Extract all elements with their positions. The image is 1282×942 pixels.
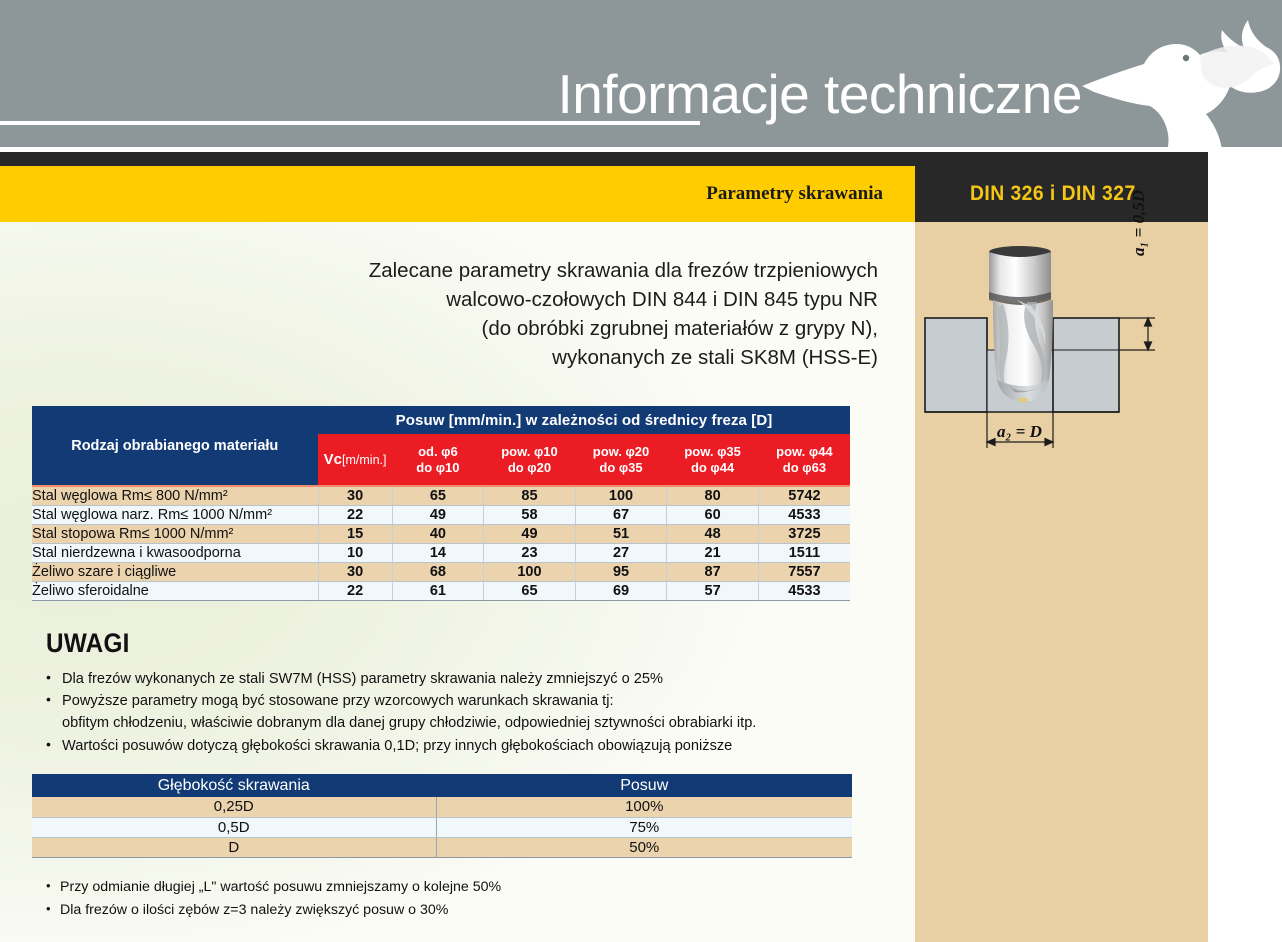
footer-notes-list: Przy odmianie długiej „L" wartość posuwu…	[46, 876, 866, 922]
dimension-vertical	[1119, 318, 1155, 350]
diam-3-bottom: do φ35	[576, 460, 667, 475]
table-row: Stal węglowa Rm≤ 800 N/mm²30658510080574…	[32, 486, 850, 505]
diam-4-top: pow. φ35	[667, 444, 758, 459]
depth-header-right: Posuw	[436, 774, 852, 797]
cell-vc: 15	[318, 524, 392, 543]
intro-paragraph: Zalecane parametry skrawania dla frezów …	[300, 256, 878, 372]
section-label-din: DIN 326 i DIN 327	[970, 182, 1136, 206]
diam-5-top: pow. φ44	[759, 444, 850, 459]
header-posuw-span: Posuw [mm/min.] w zależności od średnicy…	[318, 406, 850, 434]
cell-feed-1: 61	[392, 581, 484, 600]
cell-feed-3: 100	[575, 486, 667, 505]
vc-subscript: c	[334, 451, 342, 468]
diam-2-bottom: do φ20	[484, 460, 575, 475]
cutting-parameters-table: Rodzaj obrabianego materiału Posuw [mm/m…	[32, 406, 850, 601]
cell-feed-2: 85	[484, 486, 576, 505]
diam-5-bottom: do φ63	[759, 460, 850, 475]
diam-1-bottom: do φ10	[393, 460, 484, 475]
cell-feed-4: 60	[667, 505, 759, 524]
depth-table-row: D50%	[32, 837, 852, 857]
cell-feed-3: 69	[575, 581, 667, 600]
diam-1-top: od. φ6	[393, 444, 484, 459]
intro-line-1: Zalecane parametry skrawania dla frezów …	[300, 256, 878, 285]
cell-feed-1: 49	[392, 505, 484, 524]
depth-feed-table: Głębokość skrawania Posuw 0,25D100%0,5D7…	[32, 774, 852, 858]
header-diam-2: pow. φ10 do φ20	[484, 434, 576, 486]
cell-feed-2: 100	[484, 562, 576, 581]
cell-vc: 30	[318, 486, 392, 505]
cell-vc: 10	[318, 543, 392, 562]
depth-table-row: 0,25D100%	[32, 797, 852, 817]
diam-4-bottom: do φ44	[667, 460, 758, 475]
cell-feed-4: 80	[667, 486, 759, 505]
dimension-label-vertical: a₁ = 0,5D	[1129, 190, 1149, 256]
table-row: Stal nierdzewna i kwasoodporna1014232721…	[32, 543, 850, 562]
footer-note-1: Przy odmianie długiej „L" wartość posuwu…	[46, 876, 866, 899]
note-item-3: Wartości posuwów dotyczą głębokości skra…	[46, 735, 866, 757]
intro-line-2: walcowo-czołowych DIN 844 i DIN 845 typu…	[300, 285, 878, 314]
cell-feed-4: 21	[667, 543, 759, 562]
cell-feed-3: 95	[575, 562, 667, 581]
vc-symbol: V	[324, 451, 334, 468]
cell-vc: 30	[318, 562, 392, 581]
cell-feed-1: 68	[392, 562, 484, 581]
cell-feed-2: 58	[484, 505, 576, 524]
cell-feed-3: 51	[575, 524, 667, 543]
footer-note-2: Dla frezów o ilości zębów z=3 należy zwi…	[46, 899, 866, 922]
cell-feed-5: 3725	[758, 524, 850, 543]
header-diam-4: pow. φ35 do φ44	[667, 434, 759, 486]
intro-line-4: wykonanych ze stali SK8M (HSS-E)	[300, 343, 878, 372]
cell-material: Stal węglowa Rm≤ 800 N/mm²	[32, 486, 318, 505]
cell-feed-5: 4533	[758, 581, 850, 600]
header-diam-3: pow. φ20 do φ35	[575, 434, 667, 486]
notes-list: Dla frezów wykonanych ze stali SW7M (HSS…	[46, 668, 866, 757]
cell-feed-2: 23	[484, 543, 576, 562]
depth-table-row: 0,5D75%	[32, 817, 852, 837]
end-mill-tool	[989, 246, 1053, 402]
cell-feed-4: 48	[667, 524, 759, 543]
table-row: Żeliwo szare i ciągliwe306810095877557	[32, 562, 850, 581]
notes-title: UWAGI	[46, 628, 130, 659]
cell-feed-4: 57	[667, 581, 759, 600]
note-item-1: Dla frezów wykonanych ze stali SW7M (HSS…	[46, 668, 866, 690]
cell-feed-2: 65	[484, 581, 576, 600]
page-header-band: Informacje techniczne	[0, 0, 1282, 152]
cell-feed-4: 87	[667, 562, 759, 581]
table-row: Stal węglowa narz. Rm≤ 1000 N/mm²2249586…	[32, 505, 850, 524]
cell-feed-5: 1511	[758, 543, 850, 562]
header-diam-1: od. φ6 do φ10	[392, 434, 484, 486]
end-mill-cutting-diagram: a₁ = 0,5D a₂ = D	[923, 240, 1208, 530]
intro-line-3: (do obróbki zgrubnej materiałów z grypy …	[300, 314, 878, 343]
header-diam-5: pow. φ44 do φ63	[758, 434, 850, 486]
depth-header-left: Głębokość skrawania	[32, 774, 436, 797]
section-yellow-bar: Parametry skrawania	[0, 166, 915, 222]
cell-feed-3: 67	[575, 505, 667, 524]
cell-feed-5: 5742	[758, 486, 850, 505]
cell-feed-1: 40	[392, 524, 484, 543]
cell-material: Stal nierdzewna i kwasoodporna	[32, 543, 318, 562]
cell-depth: D	[32, 837, 436, 857]
cell-vc: 22	[318, 581, 392, 600]
page-title: Informacje techniczne	[558, 62, 1083, 126]
depth-header-row: Głębokość skrawania Posuw	[32, 774, 852, 797]
note-item-2-continuation: obfitym chłodzeniu, właściwie dobranym d…	[46, 712, 866, 734]
cell-vc: 22	[318, 505, 392, 524]
vc-unit: [m/min.]	[342, 453, 386, 467]
cell-feed-5: 7557	[758, 562, 850, 581]
table-row: Żeliwo sferoidalne22616569574533	[32, 581, 850, 600]
diam-2-top: pow. φ10	[484, 444, 575, 459]
table-header-row-span: Rodzaj obrabianego materiału Posuw [mm/m…	[32, 406, 850, 434]
cell-feed: 75%	[436, 817, 852, 837]
cell-material: Stal stopowa Rm≤ 1000 N/mm²	[32, 524, 318, 543]
cell-depth: 0,5D	[32, 817, 436, 837]
cell-feed-2: 49	[484, 524, 576, 543]
table-row: Stal stopowa Rm≤ 1000 N/mm²1540495148372…	[32, 524, 850, 543]
dimension-label-horizontal: a₂ = D	[997, 422, 1042, 442]
diam-3-top: pow. φ20	[576, 444, 667, 459]
header-material: Rodzaj obrabianego materiału	[32, 406, 318, 486]
cell-feed-5: 4533	[758, 505, 850, 524]
cell-depth: 0,25D	[32, 797, 436, 817]
cell-feed: 100%	[436, 797, 852, 817]
cell-material: Żeliwo sferoidalne	[32, 581, 318, 600]
header-vc: Vc[m/min.]	[318, 434, 392, 486]
cell-feed-1: 65	[392, 486, 484, 505]
cell-feed-1: 14	[392, 543, 484, 562]
section-label-parametry: Parametry skrawania	[706, 183, 883, 205]
cell-material: Stal węglowa narz. Rm≤ 1000 N/mm²	[32, 505, 318, 524]
cell-material: Żeliwo szare i ciągliwe	[32, 562, 318, 581]
note-item-2: Powyższe parametry mogą być stosowane pr…	[46, 690, 866, 712]
cell-feed: 50%	[436, 837, 852, 857]
cell-feed-3: 27	[575, 543, 667, 562]
